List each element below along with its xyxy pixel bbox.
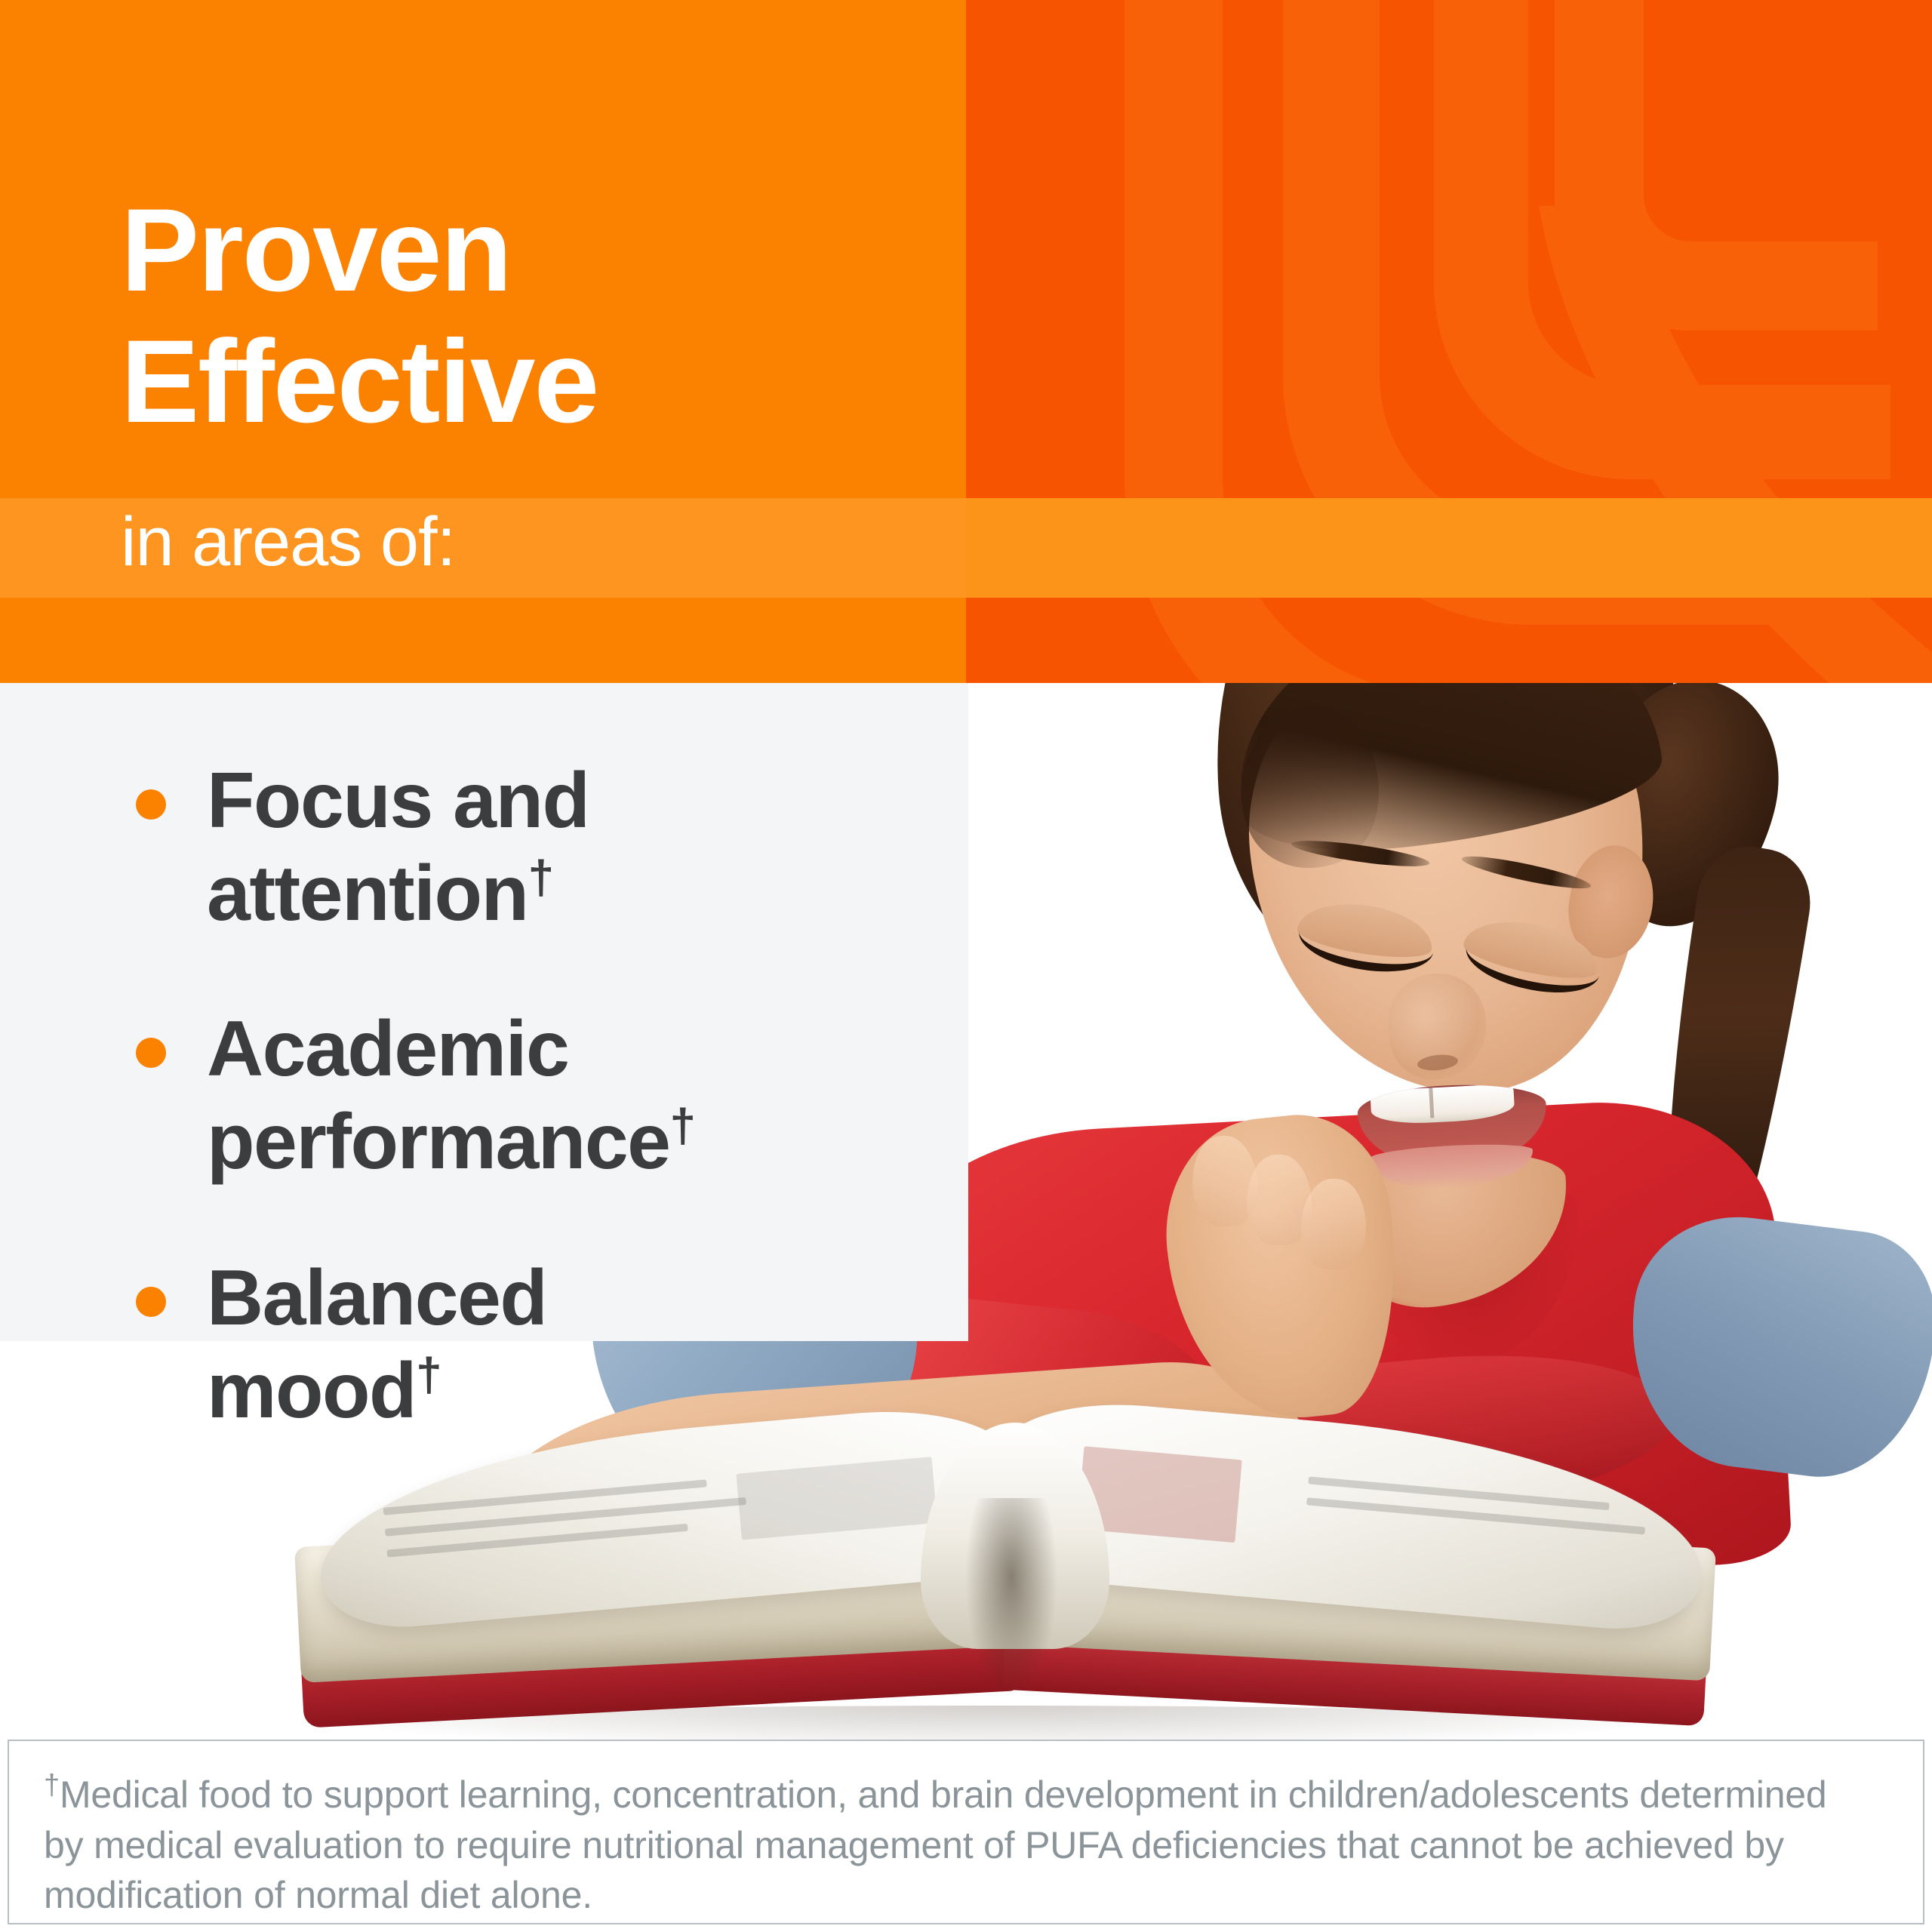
list-item: Focus and attention†: [136, 755, 989, 940]
header-subtitle: in areas of:: [121, 507, 455, 577]
list-item-label: Balanced mood†: [207, 1252, 690, 1437]
footnote-text: †Medical food to support learning, conce…: [44, 1770, 1840, 1921]
bullet-dot-icon: [136, 789, 166, 820]
book-spine-shadow: [966, 1498, 1057, 1694]
page-title: Proven Effective: [121, 185, 1102, 448]
teeth: [1370, 1084, 1515, 1126]
list-item: Academic performance†: [136, 1003, 989, 1188]
list-item-label: Focus and attention†: [207, 755, 690, 940]
promo-poster: Proven Effective in areas of: Focus and …: [0, 0, 1932, 1932]
bullet-dot-icon: [136, 1287, 166, 1317]
footnote-box: †Medical food to support learning, conce…: [8, 1740, 1924, 1924]
bullet-dot-icon: [136, 1038, 166, 1068]
list-item: Balanced mood†: [136, 1252, 989, 1437]
list-item-label: Academic performance†: [207, 1003, 690, 1188]
benefits-list: Focus and attention† Academic performanc…: [136, 755, 989, 1500]
